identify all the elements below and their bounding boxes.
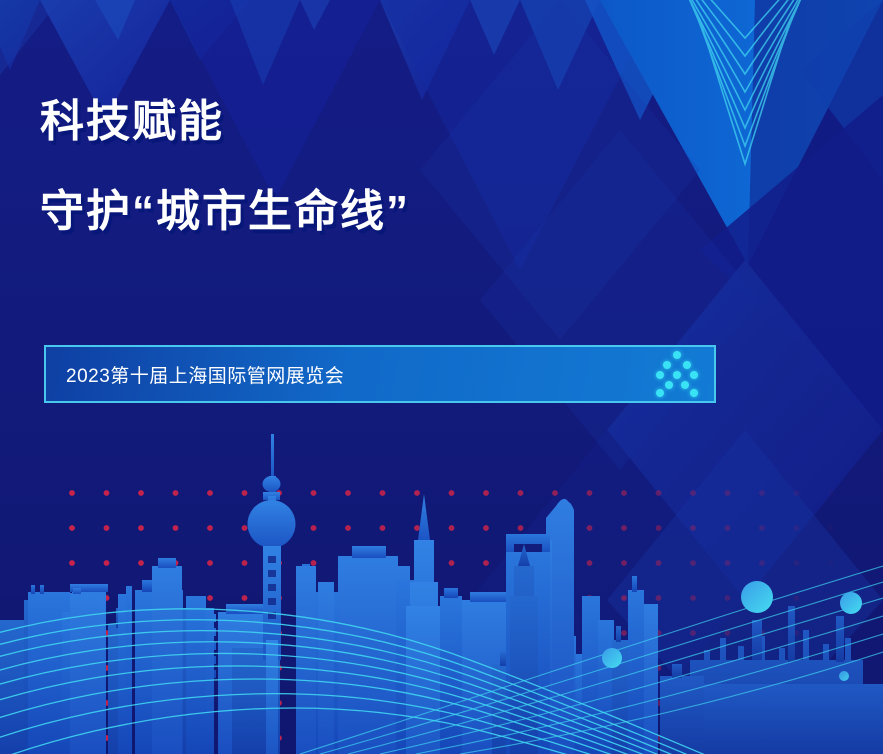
poster-title-block: 科技赋能 守护“城市生命线”: [40, 100, 410, 234]
poster-title-line-2: 守护“城市生命线”: [40, 190, 410, 234]
poster-title-line-1: 科技赋能: [40, 100, 410, 144]
dot-triangle-mark-icon: [656, 351, 698, 397]
poster-canvas: 科技赋能 守护“城市生命线” 2023第十届上海国际管网展览会: [0, 0, 883, 754]
subtitle-text: 2023第十届上海国际管网展览会: [66, 361, 344, 388]
subtitle-banner: 2023第十届上海国际管网展览会: [44, 345, 716, 403]
oriental-pearl-tower: [248, 434, 296, 754]
